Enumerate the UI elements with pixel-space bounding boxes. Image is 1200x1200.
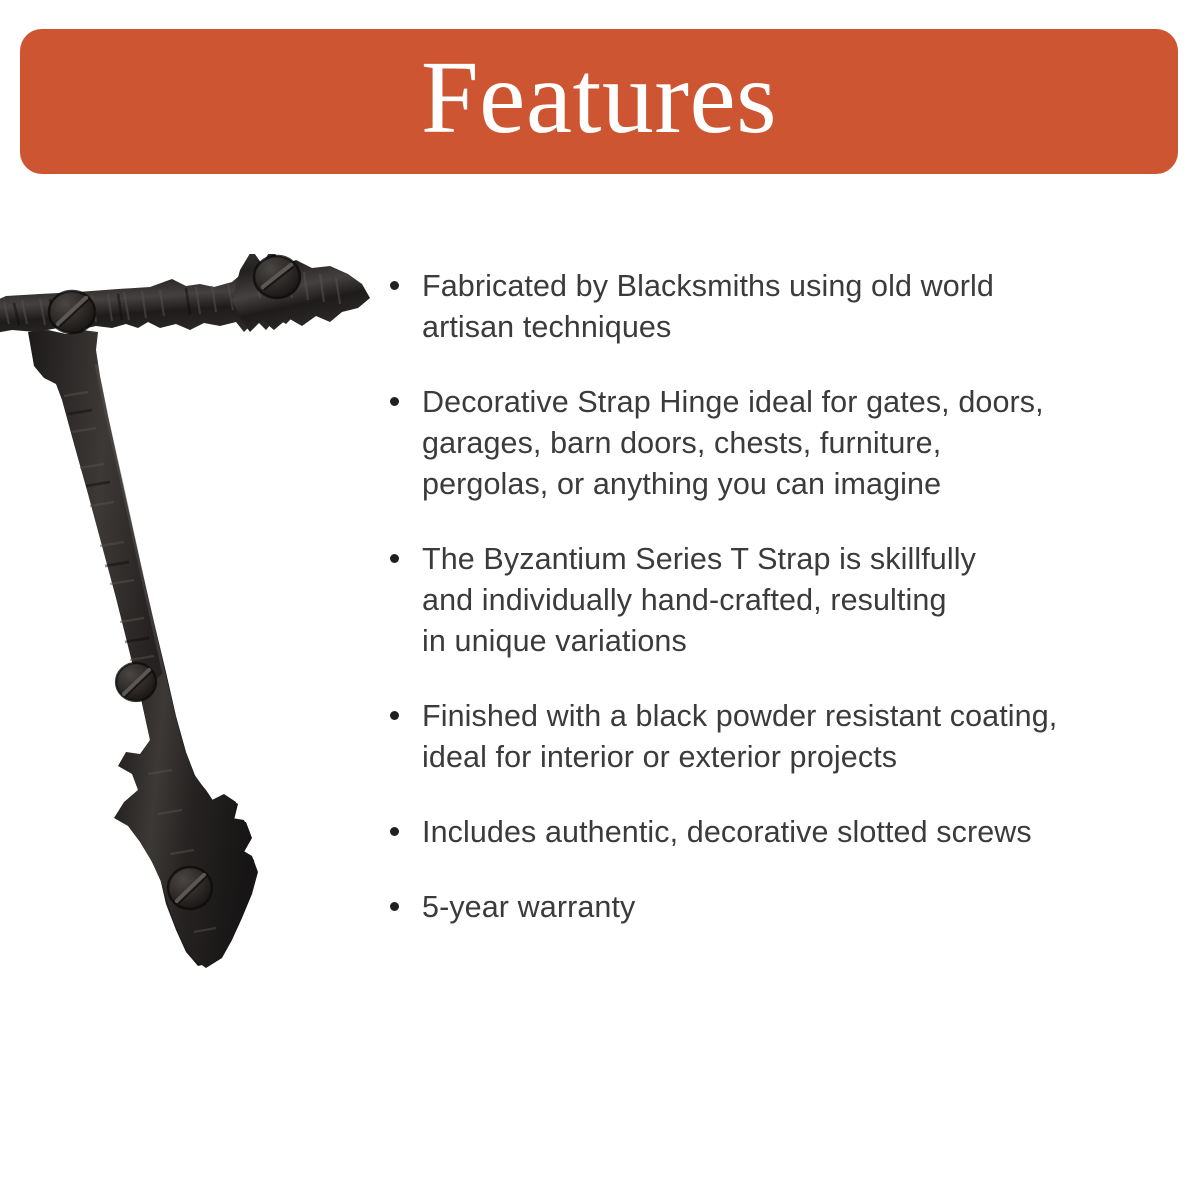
feature-text: Fabricated by Blacksmiths using old worl…: [422, 266, 1180, 348]
list-item: The Byzantium Series T Strap is skillful…: [390, 539, 1180, 662]
slotted-screw-horizontal-left: [49, 291, 95, 333]
bullet-icon: [390, 812, 422, 836]
features-header-banner: Features: [20, 29, 1178, 174]
feature-text: Includes authentic, decorative slotted s…: [422, 812, 1180, 853]
feature-text: The Byzantium Series T Strap is skillful…: [422, 539, 1180, 662]
feature-text: 5-year warranty: [422, 887, 1180, 928]
list-item: Includes authentic, decorative slotted s…: [390, 812, 1180, 853]
feature-list: Fabricated by Blacksmiths using old worl…: [390, 266, 1180, 962]
hinge-fleur-tip-bottom: [114, 672, 258, 968]
hinge-fleur-tip-top: [232, 254, 370, 332]
feature-text: Finished with a black powder resistant c…: [422, 696, 1180, 778]
slotted-screw-vertical-bottom: [168, 867, 212, 909]
page-title: Features: [421, 46, 777, 150]
product-image: [0, 254, 380, 1014]
list-item: Finished with a black powder resistant c…: [390, 696, 1180, 778]
slotted-screw-horizontal-right: [254, 256, 300, 298]
bullet-icon: [390, 539, 422, 563]
list-item: Decorative Strap Hinge ideal for gates, …: [390, 382, 1180, 505]
bullet-icon: [390, 696, 422, 720]
bullet-icon: [390, 382, 422, 406]
bullet-icon: [390, 266, 422, 290]
bullet-icon: [390, 887, 422, 911]
list-item: Fabricated by Blacksmiths using old worl…: [390, 266, 1180, 348]
list-item: 5-year warranty: [390, 887, 1180, 928]
slotted-screw-vertical-middle: [116, 663, 156, 701]
main-content: Fabricated by Blacksmiths using old worl…: [0, 174, 1200, 1200]
feature-text: Decorative Strap Hinge ideal for gates, …: [422, 382, 1180, 505]
t-strap-hinge-icon: [0, 254, 380, 1014]
